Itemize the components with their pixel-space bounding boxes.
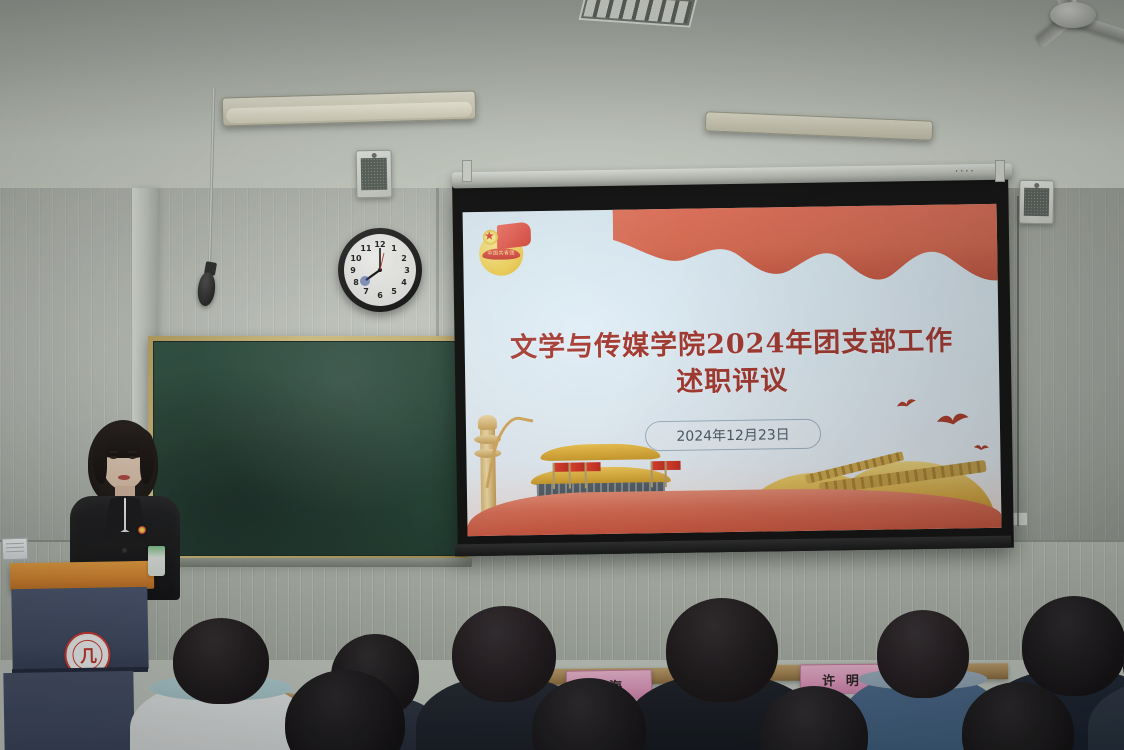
presenter-eye xyxy=(129,456,136,459)
svg-text:4: 4 xyxy=(401,278,407,287)
communist-youth-league-emblem: 中国共青团 xyxy=(477,221,532,276)
emblem-band-text: 中国共青团 xyxy=(482,248,520,260)
svg-text:6: 6 xyxy=(377,291,383,300)
dove-icon xyxy=(973,442,990,454)
wall-clock: 1212 345 678 91011 xyxy=(338,228,422,312)
roller-brand-label: ▪ ▪ ▪ ▪ xyxy=(956,168,974,174)
svg-text:10: 10 xyxy=(350,254,362,263)
svg-text:2: 2 xyxy=(401,254,407,263)
lectern-papers xyxy=(2,538,29,561)
gate-upper-roof xyxy=(540,443,660,461)
blazer-button xyxy=(122,548,127,553)
flag-icon xyxy=(584,462,586,488)
blackboard-frame xyxy=(148,336,468,561)
speaker-grille xyxy=(1024,188,1049,216)
audience-member xyxy=(238,670,452,750)
slide-title-line1: 文学与传媒学院2024年团支部工作 xyxy=(510,326,954,364)
svg-text:11: 11 xyxy=(360,244,372,253)
wall-speaker-left xyxy=(356,150,393,199)
slide-title: 文学与传媒学院2024年团支部工作 述职评议 xyxy=(464,322,999,405)
presenter-eyebrow xyxy=(109,451,118,453)
svg-text:5: 5 xyxy=(391,287,397,296)
presenter-eyebrow xyxy=(128,451,137,453)
audience-head xyxy=(760,686,868,750)
wall-cable-conduit xyxy=(1017,196,1019,526)
dove-icon xyxy=(935,409,971,432)
audience-head xyxy=(285,670,405,750)
flag-icon xyxy=(650,461,652,487)
presenter-eye xyxy=(110,456,117,459)
red-ribbon-decoration xyxy=(612,204,1001,300)
flag-icon xyxy=(568,463,570,489)
audience-member xyxy=(486,678,692,750)
audience-member xyxy=(716,686,912,750)
wall-speaker-right xyxy=(1019,180,1055,225)
svg-text:1: 1 xyxy=(391,244,397,253)
blackboard xyxy=(153,341,463,556)
presentation-slide: 中国共青团 文学与传媒学院2024年团支部工作 述职评议 2024年12月23日 xyxy=(463,204,1002,536)
fan-motor xyxy=(1050,2,1096,28)
presenter-hair-side xyxy=(93,436,107,484)
svg-text:9: 9 xyxy=(350,266,356,275)
clock-face: 1212 345 678 91011 xyxy=(344,234,416,306)
audience-area: 杨海 许 明 xyxy=(0,560,1124,750)
slide-scenery: 中华人民共和国万岁 xyxy=(466,402,1002,536)
party-member-badge-icon xyxy=(138,526,146,534)
projector-screen[interactable]: 中国共青团 文学与传媒学院2024年团支部工作 述职评议 2024年12月23日 xyxy=(452,176,1014,557)
flag-icon xyxy=(664,461,666,487)
svg-text:8: 8 xyxy=(353,278,359,287)
audience-head xyxy=(962,682,1074,750)
screen-bracket-right xyxy=(995,160,1005,182)
presenter-mouth xyxy=(118,475,130,480)
audience-member xyxy=(918,682,1118,750)
flag-icon xyxy=(552,463,554,489)
wall-outlet xyxy=(1012,512,1028,526)
emblem-flag xyxy=(497,221,531,249)
svg-text:7: 7 xyxy=(363,287,369,296)
speaker-grille xyxy=(361,158,388,190)
classroom-scene: 1212 345 678 91011 xyxy=(0,0,1124,750)
svg-text:3: 3 xyxy=(404,266,410,275)
ceiling-fan xyxy=(1018,0,1124,56)
monument-top xyxy=(478,415,497,430)
svg-text:12: 12 xyxy=(374,240,385,249)
screen-bracket-left xyxy=(462,160,472,182)
slide-title-line2: 述职评议 xyxy=(465,359,1000,405)
audience-head xyxy=(532,678,646,750)
